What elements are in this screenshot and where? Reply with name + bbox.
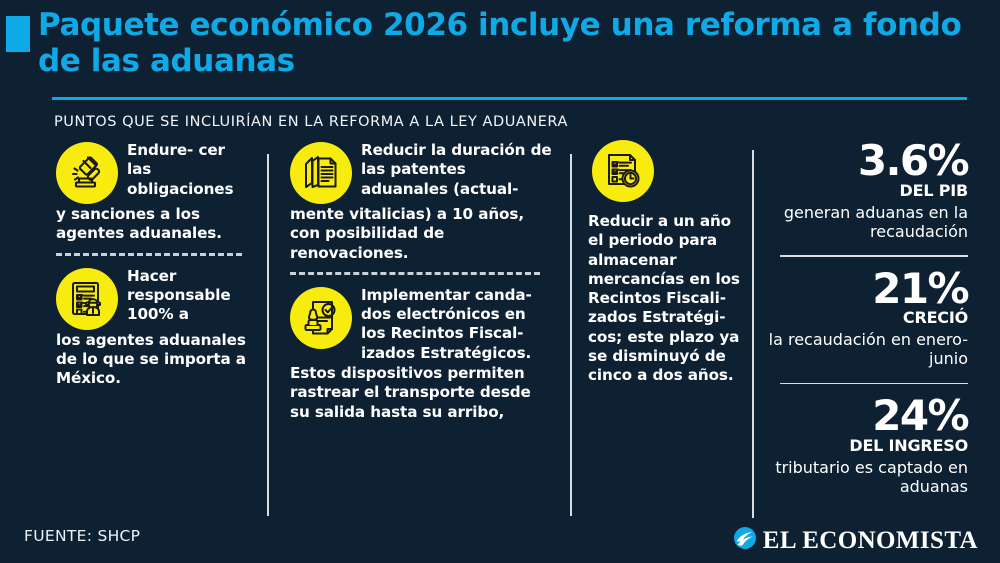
points-column-1: Endure- cer las obligaciones y sanciones…	[56, 140, 252, 388]
checklist-officer-icon	[56, 268, 118, 330]
point-separator	[290, 272, 540, 275]
page-title: Paquete económico 2026 incluye una refor…	[38, 8, 968, 80]
document-clock-icon	[592, 140, 654, 202]
stat-description: tributario es captado en aduanas	[768, 458, 968, 496]
stat-number: 3.6%	[768, 140, 968, 183]
footer: FUENTE: SHCP EL ECONOMISTA	[0, 515, 1000, 563]
stat-number: 24%	[768, 395, 968, 438]
point-rest-text: Estos dispositivos permiten rastrear el …	[290, 363, 552, 422]
stamp-approved-icon	[290, 287, 352, 349]
stat-label: CRECIÓ	[768, 309, 968, 328]
point-item: Endure- cer las obligaciones y sanciones…	[56, 140, 252, 244]
header: Paquete económico 2026 incluye una refor…	[0, 0, 1000, 108]
brand-logo: EL ECONOMISTA	[733, 526, 978, 555]
column-divider-1	[267, 154, 269, 516]
content-area: Endure- cer las obligaciones y sanciones…	[0, 140, 1000, 515]
stat-number: 21%	[768, 268, 968, 311]
header-divider	[52, 97, 967, 100]
brand-name: EL ECONOMISTA	[763, 527, 978, 555]
stat-item: 21% CRECIÓ la recaudación en enero-junio	[768, 268, 968, 371]
point-rest-text: Reducir a un año el periodo para almacen…	[588, 212, 740, 386]
point-header: Endure- cer las obligaciones	[56, 140, 252, 204]
stat-item: 24% DEL INGRESO tributario es captado en…	[768, 395, 968, 498]
infographic-root: Paquete económico 2026 incluye una refor…	[0, 0, 1000, 563]
point-item: Reducir la duración de las patentes adua…	[290, 140, 552, 263]
point-rest-text: los agentes aduanales de lo que se impor…	[56, 330, 252, 389]
documents-stack-icon	[290, 142, 352, 204]
globe-swirl-icon	[733, 526, 757, 555]
points-column-3: Reducir a un año el periodo para almacen…	[588, 140, 740, 386]
column-divider-3	[752, 150, 754, 518]
point-item: Hacer responsable 100% a los agentes adu…	[56, 266, 252, 389]
column-divider-2	[570, 154, 572, 516]
stat-description: generan aduanas en la recaudación	[768, 203, 968, 241]
point-lead-text: Reducir la duración de las patentes adua…	[361, 140, 552, 199]
source-note: FUENTE: SHCP	[24, 527, 140, 545]
accent-square-icon	[6, 16, 30, 52]
point-lead-text: Endure- cer las obligaciones	[127, 140, 252, 199]
point-rest-text: y sanciones a los agentes aduanales.	[56, 204, 252, 244]
point-item: Implementar canda- dos electrónicos en l…	[290, 285, 552, 422]
point-rest-text: mente vitalicias) a 10 años, con posibil…	[290, 204, 552, 263]
points-column-2: Reducir la duración de las patentes adua…	[290, 140, 552, 422]
stat-item: 3.6% DEL PIB generan aduanas en la recau…	[768, 140, 968, 243]
point-lead-text: Hacer responsable 100% a	[127, 266, 252, 325]
stat-label: DEL INGRESO	[768, 437, 968, 456]
point-header: Implementar canda- dos electrónicos en l…	[290, 285, 552, 363]
subtitle: PUNTOS QUE SE INCLUIRÍAN EN LA REFORMA A…	[54, 114, 568, 130]
stats-column: 3.6% DEL PIB generan aduanas en la recau…	[768, 140, 968, 498]
gavel-icon	[56, 142, 118, 204]
point-header: Reducir la duración de las patentes adua…	[290, 140, 552, 204]
stat-divider	[780, 255, 968, 257]
point-item: Reducir a un año el periodo para almacen…	[588, 140, 740, 386]
stat-divider	[780, 383, 968, 385]
point-lead-text: Implementar canda- dos electrónicos en l…	[361, 285, 552, 363]
stat-description: la recaudación en enero-junio	[768, 330, 968, 368]
point-header: Hacer responsable 100% a	[56, 266, 252, 330]
point-separator	[56, 253, 242, 256]
